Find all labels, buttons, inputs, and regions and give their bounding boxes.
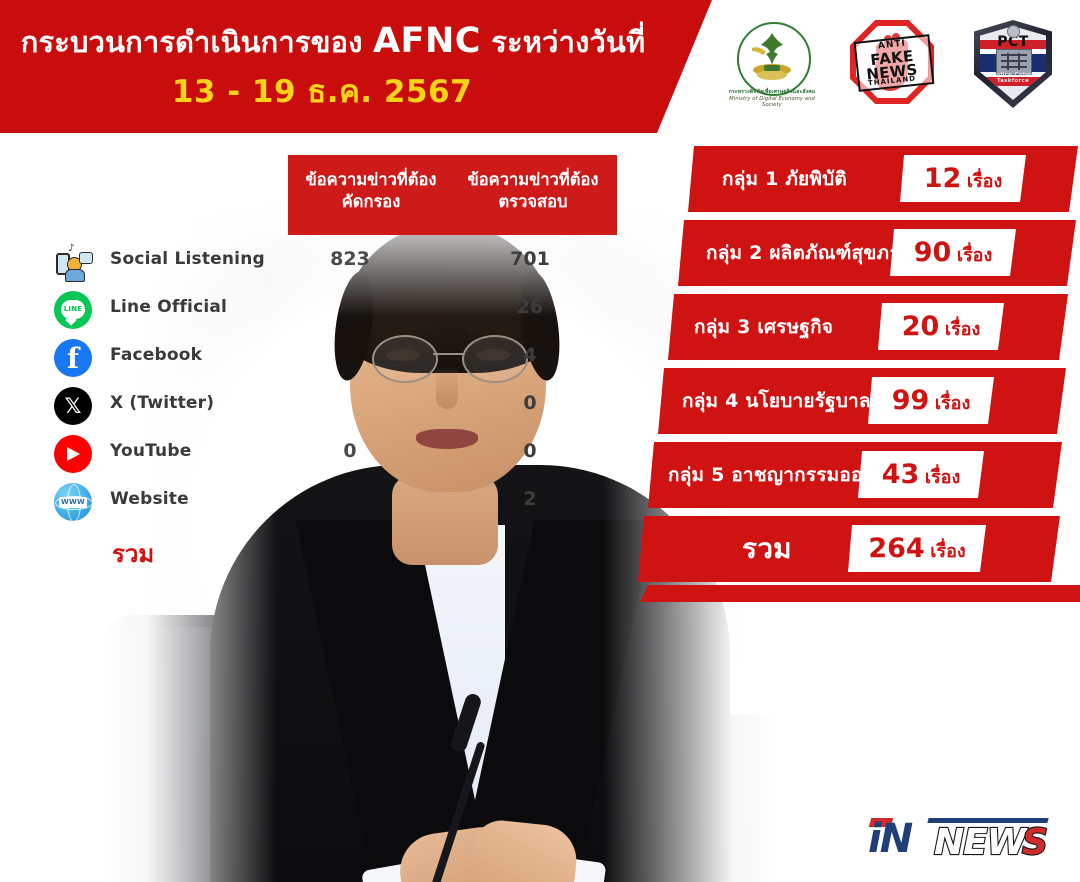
table-row: YouTube 0 0 <box>50 430 620 478</box>
pct-full-name: Police Cyber Taskforce <box>980 72 1046 84</box>
title-suffix: ระหว่างวันที่ <box>481 25 645 59</box>
group-value: 90 เรื่อง <box>890 237 1016 269</box>
page-title: กระบวนการดำเนินการของ AFNC ระหว่างวันที่ <box>18 20 648 64</box>
channel-label: Facebook <box>110 345 202 365</box>
group-value: 20 เรื่อง <box>878 311 1004 343</box>
group-total-value: 264 เรื่อง <box>848 533 986 565</box>
table-row: WWW Website 2 <box>50 478 620 526</box>
group-value: 43 เรื่อง <box>858 459 984 491</box>
date-range: 13 - 19 ธ.ค. 2567 <box>18 66 626 116</box>
watermark-s: S <box>1022 822 1048 863</box>
youtube-icon <box>54 435 92 473</box>
group-bar: กลุ่ม 2 ผลิตภัณฑ์สุขภาพ <box>678 220 1076 286</box>
watermark-news: NEW <box>934 822 1025 863</box>
in-news-watermark: iN NEW S <box>868 812 1058 870</box>
channel-label: X (Twitter) <box>110 393 214 413</box>
title-acronym: AFNC <box>373 21 481 61</box>
channel-label: YouTube <box>110 441 191 461</box>
group-value: 99 เรื่อง <box>868 385 994 417</box>
group-value: 12 เรื่อง <box>900 163 1026 195</box>
table-row: ♪ Social Listening 823 701 <box>50 238 620 286</box>
group-value-box: 90 เรื่อง <box>890 229 1016 276</box>
group-summary-panel: กลุ่ม 1 ภัยพิบัติ 12 เรื่อง กลุ่ม 2 ผลิต… <box>600 140 1080 610</box>
group-total-value-box: 264 เรื่อง <box>848 525 986 572</box>
value-verified: 0 <box>470 440 590 462</box>
group-bar: กลุ่ม 4 นโยบายรัฐบาล <box>658 368 1066 434</box>
line-icon: LINE <box>54 291 92 329</box>
value-screened: 823 <box>290 248 410 270</box>
value-verified: 701 <box>470 248 590 270</box>
des-emblem-icon <box>744 30 800 84</box>
group-total-label: รวม <box>742 527 792 571</box>
facebook-icon: f <box>54 339 92 377</box>
value-verified: 4 <box>470 344 590 366</box>
des-thai-text: กระทรวงดิจิทัลเพื่อเศรษฐกิจและสังคม <box>724 88 820 96</box>
bottom-red-strip <box>640 585 1080 602</box>
table-row: LINE Line Official 26 <box>50 286 620 334</box>
table-row: f Facebook 4 <box>50 334 620 382</box>
group-label: กลุ่ม 2 ผลิตภัณฑ์สุขภาพ <box>706 238 913 268</box>
value-screened: 0 <box>290 440 410 462</box>
des-english-text: Ministry of Digital Economy and Society <box>724 96 820 108</box>
watermark-in: iN <box>868 816 911 862</box>
column-header-screened: ข้อความข่าวที่ต้อง คัดกรอง <box>296 169 446 214</box>
channel-label: Line Official <box>110 297 227 317</box>
pct-logo: PCT Police Cyber Taskforce <box>960 16 1064 128</box>
group-bar: กลุ่ม 3 เศรษฐกิจ <box>668 294 1068 360</box>
channel-table: ♪ Social Listening 823 701 LINE Line Off… <box>50 238 620 526</box>
group-bar: กลุ่ม 5 อาชญากรรมออนไลน์ <box>648 442 1062 508</box>
channel-label: Website <box>110 489 189 509</box>
group-value-box: 99 เรื่อง <box>868 377 994 424</box>
group-label: กลุ่ม 3 เศรษฐกิจ <box>694 312 833 342</box>
group-label: กลุ่ม 4 นโยบายรัฐบาล <box>682 386 871 416</box>
group-value-box: 12 เรื่อง <box>900 155 1026 202</box>
value-verified: 2 <box>470 488 590 510</box>
anti-fake-news-logo: ANTI FAKE NEWS THAILAND <box>840 16 944 128</box>
group-total-bar: รวม <box>638 516 1060 582</box>
value-verified: 26 <box>470 296 590 318</box>
group-label: กลุ่ม 1 ภัยพิบัติ <box>722 164 847 194</box>
group-value-box: 43 เรื่อง <box>858 451 984 498</box>
ministry-des-logo: กระทรวงดิจิทัลเพื่อเศรษฐกิจและสังคม Mini… <box>720 16 824 128</box>
table-total-label: รวม <box>112 534 154 573</box>
table-header: ข้อความข่าวที่ต้อง คัดกรอง ข้อความข่าวที… <box>288 155 617 235</box>
shield-crest <box>1007 25 1020 38</box>
value-verified: 0 <box>470 392 590 414</box>
channel-label: Social Listening <box>110 249 265 269</box>
website-icon: WWW <box>54 483 92 521</box>
column-header-verified: ข้อความข่าวที่ต้อง ตรวจสอบ <box>458 169 608 214</box>
infographic-root: นายประเสริฐ จันทรรวงทอง กระบวนการดำเนินก… <box>0 0 1080 882</box>
social-listening-icon: ♪ <box>54 243 92 281</box>
logo-row: กระทรวงดิจิทัลเพื่อเศรษฐกิจและสังคม Mini… <box>712 14 1072 130</box>
title-prefix: กระบวนการดำเนินการของ <box>21 25 373 59</box>
table-row: 𝕏 X (Twitter) 0 <box>50 382 620 430</box>
x-twitter-icon: 𝕏 <box>54 387 92 425</box>
group-value-box: 20 เรื่อง <box>878 303 1004 350</box>
